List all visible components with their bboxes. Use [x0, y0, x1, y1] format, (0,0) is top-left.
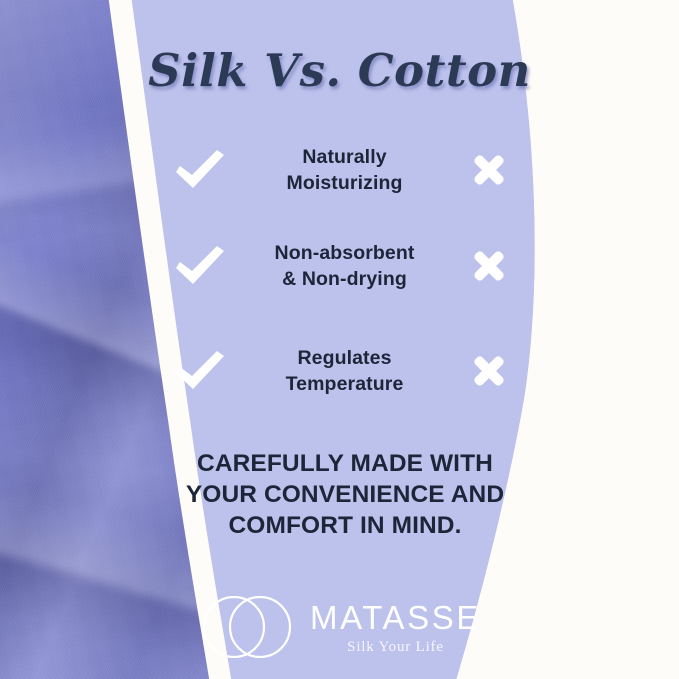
feature-label-line1: Naturally — [228, 144, 461, 170]
brand-slogan: Silk Your Life — [347, 640, 444, 655]
cross-icon — [461, 150, 517, 190]
brand-logo: MATASSE Silk Your Life — [0, 596, 679, 658]
feature-label: Non-absorbent & Non-drying — [228, 240, 461, 292]
feature-label-line1: Non-absorbent — [228, 240, 461, 266]
brand-name: MATASSE — [310, 601, 481, 634]
infographic-canvas: Silk Vs. Cotton Naturally Moisturizing — [0, 0, 679, 679]
cross-icon — [461, 246, 517, 286]
tagline: CAREFULLY MADE WITH YOUR CONVENIENCE AND… — [150, 449, 540, 542]
feature-label: Naturally Moisturizing — [228, 144, 461, 196]
feature-label-line1: Regulates — [228, 345, 461, 371]
cross-icon — [461, 351, 517, 391]
comparison-row: Naturally Moisturizing — [172, 131, 517, 209]
check-icon — [172, 245, 228, 287]
feature-label: Regulates Temperature — [228, 345, 461, 397]
tagline-line1: CAREFULLY MADE WITH — [150, 449, 540, 480]
page-title: Silk Vs. Cotton — [0, 44, 679, 97]
two-overlapping-ellipses-icon — [198, 596, 296, 658]
check-icon — [172, 149, 228, 191]
brand-wordmark: MATASSE Silk Your Life — [310, 599, 481, 655]
feature-label-line2: & Non-drying — [228, 266, 461, 292]
feature-label-line2: Temperature — [228, 371, 461, 397]
check-icon — [172, 350, 228, 392]
tagline-line2: YOUR CONVENIENCE AND — [150, 480, 540, 511]
feature-label-line2: Moisturizing — [228, 170, 461, 196]
panel-content: Silk Vs. Cotton Naturally Moisturizing — [0, 0, 679, 679]
tagline-line3: COMFORT IN MIND. — [150, 511, 540, 542]
comparison-row: Regulates Temperature — [172, 332, 517, 410]
comparison-row: Non-absorbent & Non-drying — [172, 227, 517, 305]
